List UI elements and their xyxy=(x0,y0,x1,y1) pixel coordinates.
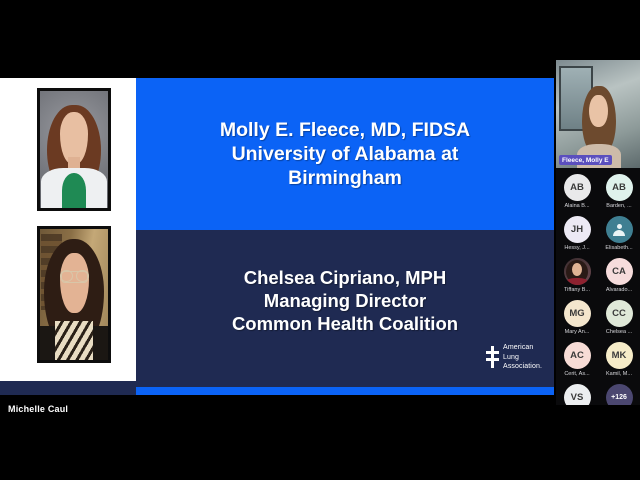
speaker-two-text: Chelsea Cipriano, MPH Managing Director … xyxy=(214,267,476,352)
slide-photo-column xyxy=(0,78,136,395)
participant-avatar-initials: MG xyxy=(564,300,591,327)
speaker-one-text: Molly E. Fleece, MD, FIDSA University of… xyxy=(198,118,492,191)
participant-tile[interactable]: MGMary An... xyxy=(556,298,598,338)
headshot-speaker-one xyxy=(37,88,111,211)
participant-name: Alvarado... xyxy=(599,287,639,293)
participant-tile[interactable]: MKKamil, M... xyxy=(598,340,640,380)
lorraine-cross-icon xyxy=(486,346,499,368)
slide-footer-strip xyxy=(0,381,136,395)
speaker-one-band: Molly E. Fleece, MD, FIDSA University of… xyxy=(136,78,554,230)
more-participants-badge[interactable]: +126 xyxy=(606,384,633,405)
participant-avatar-initials: AB xyxy=(564,174,591,201)
participant-name: Tiffany B... xyxy=(557,287,597,293)
participant-grid: ABAlaina B...ABBarden, ...JHHessy, J...E… xyxy=(556,172,640,405)
slide-accent-stripe xyxy=(136,387,554,395)
speaker-one-line-3: Birmingham xyxy=(220,166,470,190)
participant-name: Cerit, As... xyxy=(557,371,597,377)
american-lung-association-logo: American Lung Association. xyxy=(486,343,542,371)
participant-tile[interactable]: VSVidhita S... xyxy=(556,382,598,405)
participant-tile[interactable]: ABBarden, ... xyxy=(598,172,640,212)
participant-tile[interactable]: Tiffany B... xyxy=(556,256,598,296)
participant-name: Kamil, M... xyxy=(599,371,639,377)
speaker-two-line-3: Common Health Coalition xyxy=(232,313,458,336)
speaker-one-line-2: University of Alabama at xyxy=(220,142,470,166)
headshot-speaker-two xyxy=(37,226,111,363)
participant-name: Chelsea ... xyxy=(599,329,639,335)
participant-avatar-initials: AC xyxy=(564,342,591,369)
speaker-two-band: Chelsea Cipriano, MPH Managing Director … xyxy=(136,230,554,389)
caption-speaker-label: Michelle Caul xyxy=(8,404,68,414)
participant-name: Alaina B... xyxy=(557,203,597,209)
participant-tile[interactable]: CAAlvarado... xyxy=(598,256,640,296)
participant-avatar-initials: MK xyxy=(606,342,633,369)
participant-avatar-photo xyxy=(564,258,591,285)
logo-line-3: Association. xyxy=(503,362,542,371)
speaker-one-line-1: Molly E. Fleece, MD, FIDSA xyxy=(220,118,470,142)
participant-tile[interactable]: JHHessy, J... xyxy=(556,214,598,254)
person-avatar-icon xyxy=(606,216,633,243)
participant-name: Mary An... xyxy=(557,329,597,335)
participant-tile[interactable]: ACCerit, As... xyxy=(556,340,598,380)
participant-name: Hessy, J... xyxy=(557,245,597,251)
participants-panel[interactable]: Fleece, Molly E ABAlaina B...ABBarden, .… xyxy=(556,60,640,405)
speaker-two-line-2: Managing Director xyxy=(232,290,458,313)
logo-wordmark: American Lung Association. xyxy=(503,343,542,371)
participant-avatar-initials: CC xyxy=(606,300,633,327)
logo-line-1: American xyxy=(503,343,542,352)
participant-name: Barden, ... xyxy=(599,203,639,209)
zoom-meeting-screen: Molly E. Fleece, MD, FIDSA University of… xyxy=(0,0,640,480)
participant-name: Elisabeth... xyxy=(599,245,639,251)
participant-tile[interactable]: CCChelsea ... xyxy=(598,298,640,338)
participant-tile[interactable]: +126 xyxy=(598,382,640,405)
participant-avatar-initials: VS xyxy=(564,384,591,405)
participant-tile[interactable]: ABAlaina B... xyxy=(556,172,598,212)
logo-line-2: Lung xyxy=(503,353,542,362)
self-name-badge: Fleece, Molly E xyxy=(559,155,612,165)
self-video-tile[interactable]: Fleece, Molly E xyxy=(556,60,640,168)
participant-avatar-initials: AB xyxy=(606,174,633,201)
slide-text-panel: Molly E. Fleece, MD, FIDSA University of… xyxy=(136,78,554,395)
participant-avatar-initials: JH xyxy=(564,216,591,243)
participant-avatar-initials: CA xyxy=(606,258,633,285)
participant-tile[interactable]: Elisabeth... xyxy=(598,214,640,254)
shared-slide: Molly E. Fleece, MD, FIDSA University of… xyxy=(0,78,554,395)
speaker-two-line-1: Chelsea Cipriano, MPH xyxy=(232,267,458,290)
